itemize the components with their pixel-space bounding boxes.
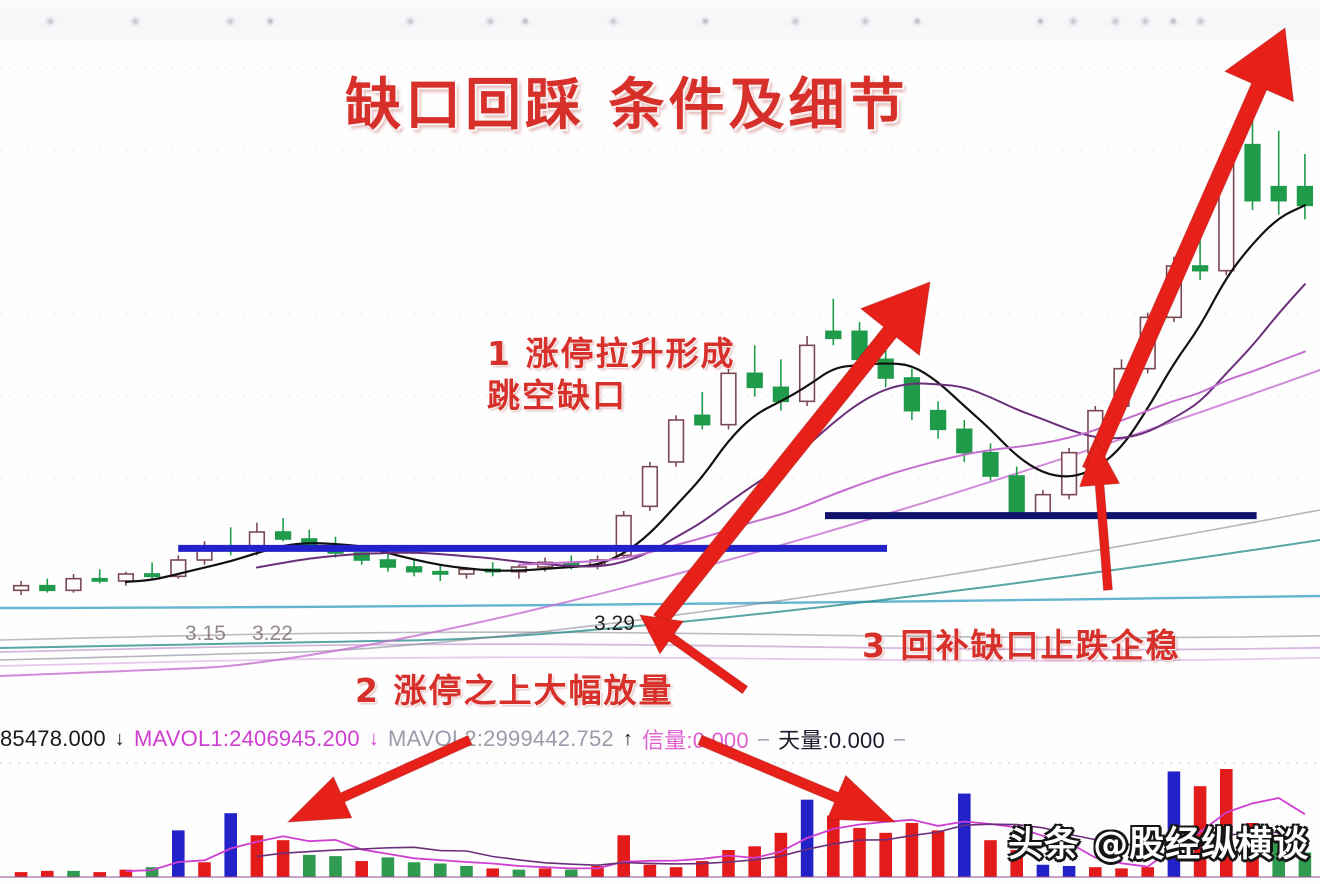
volume-bar — [1115, 868, 1128, 877]
candle-body — [14, 586, 29, 591]
candle-body — [276, 532, 291, 539]
candlestick — [800, 336, 815, 406]
volume-bar — [932, 830, 945, 877]
candle-body — [1271, 187, 1286, 201]
mavol2-dir-icon: ↑ — [623, 728, 633, 751]
volume-dir-icon: ↓ — [115, 728, 125, 751]
candlestick — [119, 572, 134, 586]
candlestick — [1062, 448, 1077, 499]
obscured-mark: ✳ — [130, 14, 141, 30]
volume-bar — [565, 870, 578, 877]
obscured-mark: ✳ — [1068, 14, 1079, 30]
candle-body — [983, 453, 998, 476]
candle-body — [1298, 187, 1313, 206]
annotation-note-2: 2 涨停之上大幅放量 — [355, 670, 673, 712]
candle-body — [66, 579, 81, 591]
candlestick — [852, 322, 867, 369]
chart-title-annotation: 缺口回踩 条件及细节 — [345, 70, 909, 142]
candlestick — [905, 369, 920, 420]
volume-bar — [906, 823, 919, 877]
volume-bar — [644, 865, 657, 877]
price-tag-left-a: 3.15 — [185, 622, 226, 646]
candlestick — [1167, 257, 1182, 322]
volume-bar — [224, 813, 237, 877]
candlestick — [1193, 205, 1208, 280]
candle-body — [1219, 163, 1234, 270]
mavol2-value: MAVOL2:2999442.752 — [388, 726, 614, 752]
candle-body — [92, 579, 107, 581]
tianliang-dir-icon: – — [894, 728, 905, 751]
obscured-mark: ✳ — [1110, 14, 1121, 30]
candlestick — [433, 565, 448, 581]
volume-bar — [1063, 866, 1076, 877]
candle-body — [1036, 495, 1051, 514]
xinliang-dir-icon: – — [758, 728, 769, 751]
annotation-note-1: 1 涨停拉升形成 跳空缺口 — [487, 333, 735, 417]
annotation-note-3: 3 回补缺口止跌企稳 — [862, 625, 1180, 667]
volume-bar — [486, 868, 499, 877]
obscured-mark: ✴ — [520, 14, 531, 30]
price-tag-gap: 3.29 — [594, 612, 635, 636]
obscured-mark: ✳ — [608, 14, 619, 30]
candlestick — [878, 350, 893, 387]
candlestick — [1245, 70, 1260, 210]
candle-body — [1114, 369, 1129, 406]
volume-bar — [853, 828, 866, 877]
candle-body — [1140, 317, 1155, 368]
candlestick — [14, 581, 29, 595]
candle-body — [747, 373, 762, 387]
candlestick — [1140, 313, 1155, 374]
candle-body — [643, 467, 658, 507]
volume-bar — [277, 840, 290, 877]
candlestick — [669, 415, 684, 466]
candlestick — [826, 299, 841, 346]
volume-bar — [434, 864, 447, 878]
candle-body — [669, 420, 684, 462]
candlestick — [747, 345, 762, 396]
volume-bar — [1089, 867, 1102, 877]
volume-bar — [722, 850, 735, 877]
obscured-mark: ✳ — [405, 14, 416, 30]
candlestick — [1271, 131, 1286, 215]
candle-body — [957, 429, 972, 452]
candle-body — [459, 569, 474, 574]
mavol1-value: MAVOL1:2406945.200 — [134, 726, 360, 752]
candlestick — [1114, 359, 1129, 415]
xinliang-value: 信量:0.000 — [642, 723, 749, 755]
candle-body — [407, 567, 422, 572]
obscured-mark: ✳ — [1140, 14, 1151, 30]
candlestick — [145, 562, 160, 578]
candle-body — [1062, 453, 1077, 495]
volume-bar — [513, 870, 526, 877]
watermark-text: 头条 @股经纵横谈 — [1008, 816, 1309, 867]
volume-bar — [198, 862, 211, 877]
candle-body — [1167, 266, 1182, 317]
volume-indicator-status-bar: 85478.000 ↓ MAVOL1:2406945.200 ↓ MAVOL2:… — [0, 722, 1320, 756]
volume-bar — [617, 835, 630, 877]
obscured-mark: ✳ — [860, 14, 871, 30]
obscured-top-toolbar: ✳✳✳✴✳✳✴✳✴✳✳✴✴✳✳✳✴✳ — [0, 0, 1320, 41]
obscured-mark: ✳ — [45, 14, 56, 30]
tianliang-value: 天量:0.000 — [778, 723, 885, 755]
candlestick — [92, 569, 107, 583]
volume-bar — [460, 866, 473, 877]
obscured-mark: ✴ — [1168, 14, 1179, 30]
mavol1-dir-icon: ↓ — [369, 728, 379, 751]
candlestick — [66, 574, 81, 593]
volume-bar — [329, 856, 342, 877]
obscured-mark: ✳ — [1195, 14, 1206, 30]
volume-bar — [382, 857, 395, 877]
volume-bar — [958, 794, 971, 877]
candle-body — [1193, 266, 1208, 271]
candlestick — [1219, 149, 1234, 275]
volume-bar — [827, 816, 840, 877]
obscured-mark: ✴ — [265, 14, 276, 30]
candle-body — [381, 560, 396, 567]
obscured-mark: ✳ — [485, 14, 496, 30]
candle-body — [433, 572, 448, 574]
obscured-mark: ✳ — [225, 14, 236, 30]
volume-bar — [172, 830, 185, 877]
candlestick — [643, 462, 658, 511]
candlestick — [1298, 154, 1313, 219]
obscured-mark: ✴ — [912, 14, 923, 30]
candle-body — [800, 345, 815, 401]
obscured-mark: ✳ — [790, 14, 801, 30]
candle-body — [145, 574, 160, 576]
candle-body — [40, 586, 55, 591]
stock-chart-screenshot: ✳✳✳✴✳✳✴✳✴✳✳✴✴✳✳✳✴✳ 3.29 3.15 3.22 85478.… — [0, 0, 1320, 884]
volume-bar — [539, 868, 552, 877]
obscured-mark: ✴ — [700, 14, 711, 30]
volume-bar — [355, 861, 368, 877]
candle-body — [119, 574, 134, 581]
price-tag-left-b: 3.22 — [252, 622, 293, 646]
candlestick — [407, 560, 422, 576]
candle-body — [878, 359, 893, 378]
candle-body — [852, 331, 867, 359]
candlestick — [40, 579, 55, 593]
candle-body — [931, 411, 946, 430]
volume-bar — [748, 846, 761, 877]
candle-body — [1009, 476, 1024, 513]
candlestick — [931, 401, 946, 438]
volume-bar — [408, 862, 421, 877]
volume-bar — [670, 867, 683, 877]
candlestick — [276, 518, 291, 541]
volume-bar — [984, 840, 997, 877]
candle-body — [1245, 145, 1260, 201]
obscured-mark: ✴ — [1035, 14, 1046, 30]
volume-bar — [1141, 867, 1154, 877]
long-ma-line — [0, 596, 1320, 608]
candle-body — [826, 331, 841, 338]
volume-value: 85478.000 — [0, 726, 106, 752]
volume-bar — [303, 855, 316, 877]
candlestick — [381, 553, 396, 572]
